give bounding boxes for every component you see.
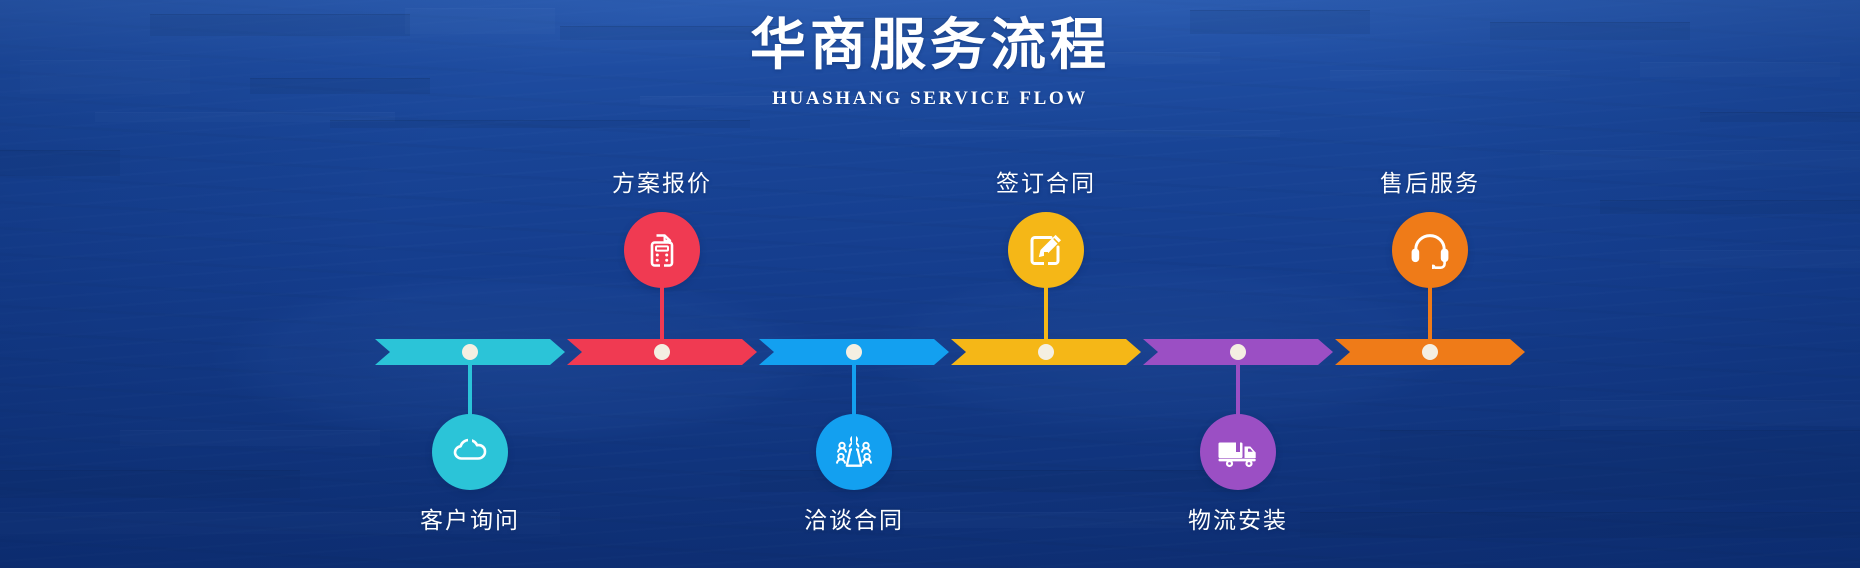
flow-connector-6	[1428, 252, 1432, 352]
service-flow-diagram: 客户询问 方案报价 洽谈合同 签订合同	[0, 0, 1860, 568]
flow-connector-3	[852, 352, 856, 452]
flow-node-dot-3	[846, 344, 862, 360]
service-flow-banner: 华商服务流程 HUASHANG SERVICE FLOW 客户询问 方案报价 洽…	[0, 0, 1860, 568]
flow-node-dot-6	[1422, 344, 1438, 360]
flow-connector-1	[468, 352, 472, 452]
flow-step-label-2: 方案报价	[542, 164, 782, 198]
flow-node-dot-4	[1038, 344, 1054, 360]
flow-node-dot-2	[654, 344, 670, 360]
flow-step-label-5: 物流安装	[1118, 501, 1358, 535]
flow-node-dot-5	[1230, 344, 1246, 360]
flow-step-label-6: 售后服务	[1310, 164, 1550, 198]
flow-connector-4	[1044, 252, 1048, 352]
flow-step-label-1: 客户询问	[350, 501, 590, 535]
flow-connector-5	[1236, 352, 1240, 452]
flow-step-label-3: 洽谈合同	[734, 501, 974, 535]
flow-step-label-4: 签订合同	[926, 164, 1166, 198]
flow-node-dot-1	[462, 344, 478, 360]
flow-connector-2	[660, 252, 664, 352]
